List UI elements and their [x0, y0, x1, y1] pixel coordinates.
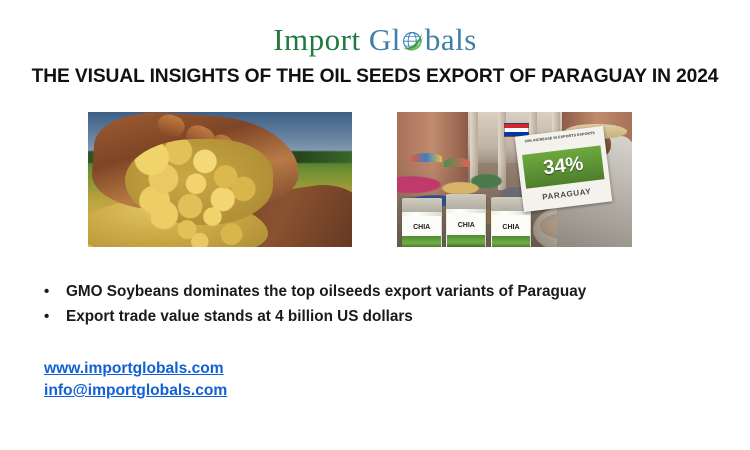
chia-seeds-jar: CHIA [446, 194, 486, 247]
soybeans-in-hands-photo [88, 112, 352, 247]
falling-seeds [151, 201, 257, 247]
umbrella-shape [411, 153, 442, 162]
brand-logo: Import Gl bals [0, 20, 750, 64]
email-link[interactable]: info@importglobals.com [44, 380, 227, 402]
key-insights-list: • GMO Soybeans dominates the top oilseed… [44, 283, 724, 333]
page-title: THE VISUAL INSIGHTS OF THE OIL SEEDS EXP… [0, 66, 750, 88]
list-item-text: Export trade value stands at 4 billion U… [66, 308, 413, 326]
brand-word-import: Import [273, 22, 360, 57]
paraguay-market-photo: CHIA CHIA CHIA 34% INCREASE IN EXPORTS E… [397, 112, 632, 247]
umbrella-shape [444, 158, 470, 167]
contact-links: www.importglobals.com info@importglobals… [44, 358, 227, 402]
export-increase-sign: 34% INCREASE IN EXPORTS EXPORTS 34% PARA… [515, 126, 613, 212]
jar-label-band [447, 235, 485, 247]
website-link[interactable]: www.importglobals.com [44, 358, 227, 380]
jar-label-band [402, 236, 440, 247]
brand-word-gl: Gl [369, 22, 401, 57]
bullet-marker: • [44, 284, 66, 299]
jar-label-band [492, 236, 530, 247]
brand-word-bals: bals [425, 22, 477, 57]
list-item-text: GMO Soybeans dominates the top oilseeds … [66, 283, 586, 301]
jar-lid [446, 194, 486, 208]
bullet-marker: • [44, 309, 66, 324]
finger-shape [155, 112, 187, 139]
list-item: • Export trade value stands at 4 billion… [44, 308, 724, 326]
brand-logo-text: Import Gl bals [273, 20, 477, 60]
chia-seeds-jar: CHIA [402, 198, 442, 247]
globe-icon [400, 24, 426, 50]
list-item: • GMO Soybeans dominates the top oilseed… [44, 283, 724, 301]
jar-lid [402, 198, 442, 211]
